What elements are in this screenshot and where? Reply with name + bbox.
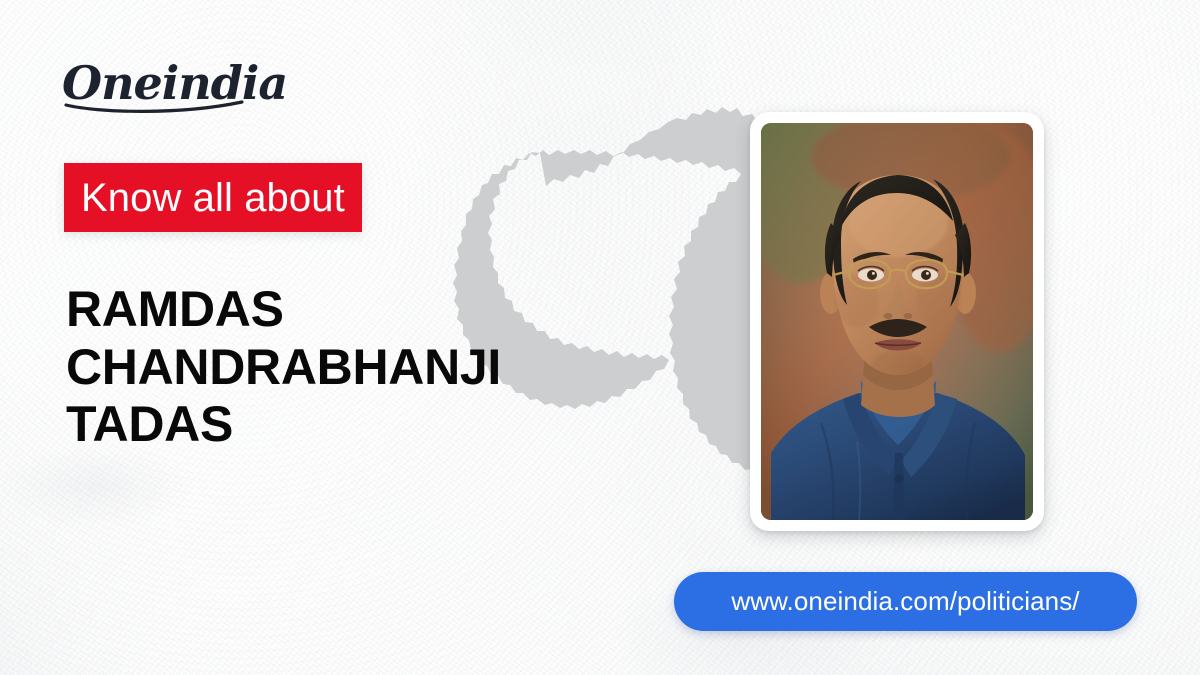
banner-label: Know all about [81, 178, 345, 218]
politician-photo [761, 123, 1033, 520]
website-url-pill[interactable]: www.oneindia.com/politicians/ [674, 572, 1137, 631]
website-url-text: www.oneindia.com/politicians/ [731, 586, 1079, 617]
oneindia-logo[interactable]: Oneindia [60, 47, 290, 119]
know-all-about-banner: Know all about [64, 163, 362, 232]
politician-name: RAMDAS CHANDRABHANJI TADAS [66, 281, 706, 454]
politician-card-canvas: Oneindia Know all about RAMDAS CHANDRABH… [0, 0, 1200, 675]
politician-photo-card [750, 112, 1044, 531]
oneindia-logo-text: Oneindia [62, 56, 287, 110]
